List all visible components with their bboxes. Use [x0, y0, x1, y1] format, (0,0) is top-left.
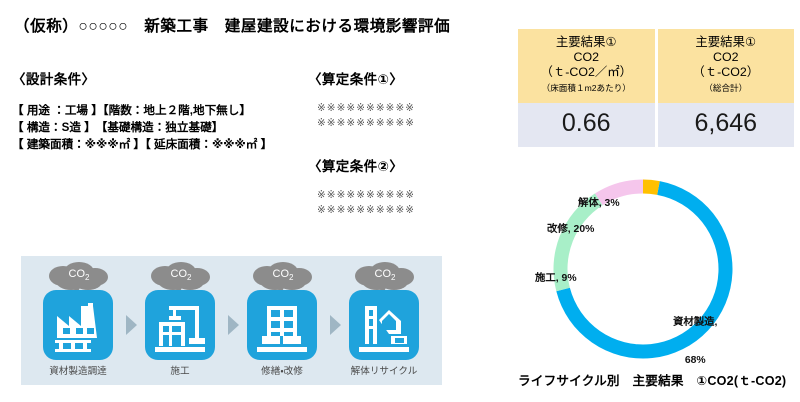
header-unit-label: （ｔ-CO2／㎡） — [520, 65, 653, 80]
donut-label-shizai-line1: 資材製造, — [673, 317, 717, 330]
lifecycle-stage-label: 修繕・改修 — [231, 363, 333, 377]
arrow-right-icon — [124, 314, 138, 336]
demolition-icon — [349, 290, 419, 360]
results-table: 主要結果① CO2 （ｔ-CO2／㎡） （床面積１m2あたり） 主要結果① CO… — [518, 29, 794, 147]
lifecycle-stage-label: 解体リサイクル — [333, 363, 435, 377]
lifecycle-donut-chart: 解体, 3% 改修, 20% 施工, 9% 資材製造, 68% — [545, 176, 741, 362]
result-value-per-area: 0.66 — [518, 103, 656, 147]
donut-label-shizai-line2: 68% — [673, 355, 717, 368]
header-sub-label: CO2 — [520, 50, 653, 65]
calculation-condition-heading: 〈算定条件②〉 — [308, 155, 498, 175]
header-note-label: （総合計） — [660, 81, 793, 96]
chart-caption: ライフサイクル別 主要結果 ①CO2(ｔ-CO2) — [518, 370, 786, 389]
lifecycle-diagram: CO2 — [21, 256, 442, 385]
header-main-label: 主要結果① — [520, 35, 653, 50]
table-header-cell-per-area: 主要結果① CO2 （ｔ-CO2／㎡） （床面積１m2あたり） — [518, 29, 656, 103]
table-header-cell-total: 主要結果① CO2 （ｔ-CO2） （総合計） — [656, 29, 794, 103]
building-renovation-icon — [247, 290, 317, 360]
placeholder-text-line: ※※※※※※※※※※ — [308, 102, 498, 117]
lifecycle-stage-construction: CO2 施工 — [137, 256, 223, 385]
header-unit-label: （ｔ-CO2） — [660, 65, 793, 80]
arrow-right-icon — [226, 314, 240, 336]
lifecycle-stage-label: 資材製造調達 — [27, 363, 129, 377]
placeholder-text-line: ※※※※※※※※※※ — [308, 117, 498, 132]
table-value-row: 0.66 6,646 — [518, 103, 794, 147]
calculation-condition-block-1: 〈算定条件①〉 ※※※※※※※※※※ ※※※※※※※※※※ — [308, 68, 498, 131]
calculation-conditions-section: 〈算定条件①〉 ※※※※※※※※※※ ※※※※※※※※※※ 〈算定条件②〉 ※※… — [308, 68, 498, 242]
placeholder-text-line: ※※※※※※※※※※ — [308, 204, 498, 219]
header-note-label: （床面積１m2あたり） — [520, 81, 653, 96]
calculation-condition-heading: 〈算定条件①〉 — [308, 68, 498, 88]
design-condition-line: 【 構造：S造 】 【基礎構造：独立基礎】 — [12, 119, 312, 136]
result-value-total: 6,646 — [656, 103, 794, 147]
design-condition-line: 【 建築面積：※※※㎡ 】【 延床面積：※※※㎡ 】 — [12, 136, 312, 153]
calculation-condition-block-2: 〈算定条件②〉 ※※※※※※※※※※ ※※※※※※※※※※ — [308, 155, 498, 218]
placeholder-text-line: ※※※※※※※※※※ — [308, 189, 498, 204]
design-condition-line: 【 用途 ：工場 】【階数：地上２階,地下無し】 — [12, 102, 312, 119]
header-sub-label: CO2 — [660, 50, 793, 65]
lifecycle-stage-demolition-recycle: CO2 解体リサイクル — [341, 256, 427, 385]
table-header-row: 主要結果① CO2 （ｔ-CO2／㎡） （床面積１m2あたり） 主要結果① CO… — [518, 29, 794, 103]
donut-slice — [643, 180, 660, 195]
donut-label-kaitai: 解体, 3% — [578, 198, 620, 211]
crane-icon — [145, 290, 215, 360]
lifecycle-stage-label: 施工 — [129, 363, 231, 377]
donut-label-kaishu: 改修, 20% — [547, 224, 594, 237]
design-conditions-section: 〈設計条件〉 【 用途 ：工場 】【階数：地上２階,地下無し】 【 構造：S造 … — [12, 68, 312, 153]
page-title: （仮称）○○○○○ 新築工事 建屋建設における環境影響評価 — [14, 14, 450, 36]
design-conditions-heading: 〈設計条件〉 — [12, 68, 312, 88]
lifecycle-stage-material-production: CO2 — [35, 256, 121, 385]
arrow-right-icon — [328, 314, 342, 336]
header-main-label: 主要結果① — [660, 35, 793, 50]
donut-label-seko: 施工, 9% — [535, 273, 577, 286]
lifecycle-stage-renovation: CO2 修繕・改修 — [239, 256, 325, 385]
factory-icon — [43, 290, 113, 360]
